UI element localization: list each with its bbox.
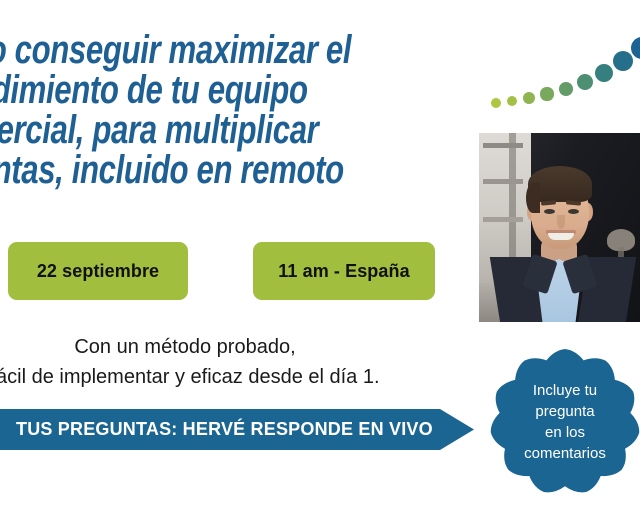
- dot-3: [523, 92, 535, 104]
- time-badge: 11 am - España: [253, 242, 435, 300]
- headline-line-1: ¿Cómo conseguir maximizar el: [0, 30, 399, 70]
- dot-9: [631, 37, 640, 59]
- dot-5: [559, 82, 574, 97]
- photo-eye-left: [544, 209, 555, 214]
- questions-banner-label: TUS PREGUNTAS: HERVÉ RESPONDE EN VIVO: [0, 419, 433, 440]
- dot-6: [577, 74, 593, 90]
- dot-8: [613, 51, 633, 71]
- subtitle: Con un método probado, fácil de implemen…: [0, 332, 480, 392]
- dot-7: [595, 64, 613, 82]
- date-badge-label: 22 septiembre: [37, 261, 159, 282]
- photo-mouth: [548, 233, 574, 240]
- photo-hair-side: [526, 183, 540, 213]
- seal-shape-icon: [487, 347, 640, 497]
- subtitle-line-1: Con un método probado,: [0, 332, 480, 362]
- dot-1: [491, 98, 501, 108]
- photo-nose: [557, 215, 565, 229]
- headline-line-2: rendimiento de tu equipo: [0, 70, 399, 110]
- headline-line-4: las ventas, incluido en remoto: [0, 150, 399, 190]
- dot-arc-icon: [486, 30, 640, 110]
- date-badge: 22 septiembre: [8, 242, 188, 300]
- speaker-photo: [479, 133, 640, 322]
- photo-window-bar: [483, 217, 523, 222]
- dot-4: [540, 87, 553, 100]
- photo-window-bar: [483, 179, 523, 184]
- time-badge-label: 11 am - España: [278, 261, 409, 282]
- headline: ¿Cómo conseguir maximizar el rendimiento…: [0, 30, 399, 190]
- headline-line-3: comercial, para multiplicar: [0, 110, 399, 150]
- comment-seal-badge: Incluye tu pregunta en los comentarios: [487, 347, 640, 497]
- dot-2: [507, 96, 518, 107]
- subtitle-line-2: fácil de implementar y eficaz desde el d…: [0, 362, 480, 392]
- questions-banner: TUS PREGUNTAS: HERVÉ RESPONDE EN VIVO: [0, 409, 474, 450]
- photo-window-bar: [483, 143, 523, 148]
- photo-eye-right: [568, 209, 579, 214]
- promo-graphic-canvas: ¿Cómo conseguir maximizar el rendimiento…: [0, 0, 640, 518]
